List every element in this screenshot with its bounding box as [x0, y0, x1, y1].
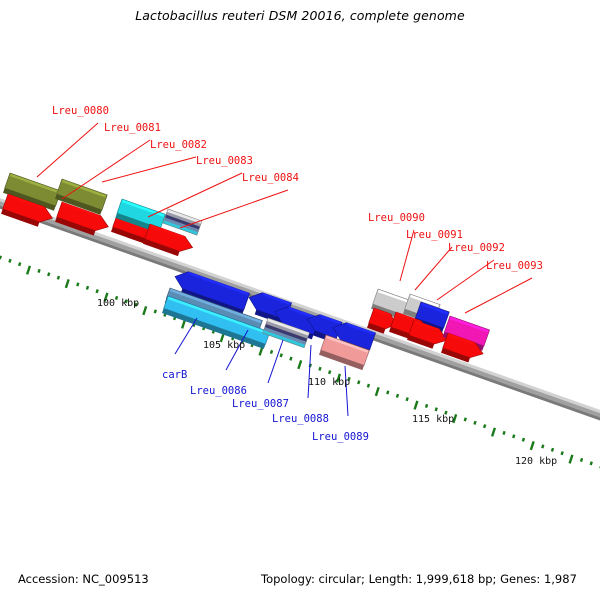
leader-line-reverse: [175, 318, 197, 354]
gene-label-lreu_0090[interactable]: Lreu_0090: [368, 212, 425, 224]
gene-label-lreu_0083[interactable]: Lreu_0083: [196, 155, 253, 167]
gene-label-lreu_0086[interactable]: Lreu_0086: [190, 385, 247, 397]
label-leader-lines: [37, 123, 532, 416]
gene-label-carb[interactable]: carB: [162, 369, 187, 381]
genome-map-viewer: Lactobacillus reuteri DSM 20016, complet…: [0, 0, 600, 600]
ruler-tick-minor: [95, 289, 98, 293]
leader-line-reverse: [308, 345, 311, 398]
ruler-tick-minor: [76, 282, 79, 286]
ruler-label-2[interactable]: 110 kbp: [308, 377, 350, 388]
ruler-tick-minor: [405, 397, 408, 401]
ruler-tick-major: [375, 387, 380, 396]
leader-line-forward: [102, 157, 196, 182]
ruler-tick-minor: [154, 309, 157, 313]
ruler-tick-minor: [0, 255, 2, 259]
ruler-tick-minor: [502, 431, 505, 435]
leader-line-reverse: [268, 340, 283, 383]
ruler-tick-minor: [47, 272, 50, 276]
ruler-tick-minor: [590, 461, 593, 465]
gene-label-lreu_0081[interactable]: Lreu_0081: [104, 122, 161, 134]
ruler-tick-major: [530, 441, 535, 450]
gene-label-lreu_0084[interactable]: Lreu_0084: [242, 172, 299, 184]
ruler-tick-minor: [328, 370, 331, 374]
ruler-label-0[interactable]: 100 kbp: [97, 298, 139, 309]
ruler-tick-minor: [386, 390, 389, 394]
ruler-tick-minor: [425, 404, 428, 408]
gene-label-lreu_0088[interactable]: Lreu_0088: [272, 413, 329, 425]
gene-label-lreu_0093[interactable]: Lreu_0093: [486, 260, 543, 272]
ruler-tick-minor: [512, 434, 515, 438]
ruler-tick-major: [568, 455, 573, 464]
ruler-tick-minor: [522, 438, 525, 442]
ruler-tick-minor: [357, 380, 360, 384]
gene-features: [1, 173, 490, 370]
leader-line-forward: [37, 123, 98, 177]
ruler-label-4[interactable]: 120 kbp: [515, 456, 557, 467]
ruler-tick-minor: [18, 262, 21, 266]
genome-map-canvas: [0, 0, 600, 600]
ruler-tick-minor: [289, 357, 292, 361]
gene-label-lreu_0091[interactable]: Lreu_0091: [406, 229, 463, 241]
gene-label-lreu_0082[interactable]: Lreu_0082: [150, 139, 207, 151]
ruler-tick-minor: [280, 353, 283, 357]
ruler-tick-minor: [580, 458, 583, 462]
leader-line-forward: [180, 190, 288, 228]
ruler-tick-major: [26, 266, 31, 275]
leader-line-forward: [415, 247, 452, 290]
ruler-tick-minor: [551, 448, 554, 452]
ruler-tick-minor: [483, 424, 486, 428]
ruler-tick-minor: [541, 444, 544, 448]
leader-line-reverse: [345, 366, 348, 416]
ruler-tick-minor: [464, 417, 467, 421]
ruler-tick-minor: [57, 276, 60, 280]
gene-label-lreu_0092[interactable]: Lreu_0092: [448, 242, 505, 254]
ruler-tick-minor: [270, 350, 273, 354]
ruler-tick-minor: [8, 259, 11, 263]
ruler-tick-minor: [560, 451, 563, 455]
leader-line-forward: [465, 278, 532, 313]
ruler-label-3[interactable]: 115 kbp: [412, 414, 454, 425]
ruler-label-1[interactable]: 105 kbp: [203, 340, 245, 351]
ruler-tick-minor: [86, 286, 89, 290]
ruler-tick-minor: [473, 421, 476, 425]
ruler-tick-major: [65, 279, 70, 288]
leader-line-forward: [148, 173, 242, 217]
genome-summary-text: Topology: circular; Length: 1,999,618 bp…: [261, 572, 577, 586]
ruler-tick-minor: [318, 367, 321, 371]
ruler-tick-major: [491, 428, 496, 437]
gene-label-lreu_0080[interactable]: Lreu_0080: [52, 105, 109, 117]
ruler-tick-minor: [396, 394, 399, 398]
ruler-tick-major: [413, 401, 418, 410]
gene-label-lreu_0087[interactable]: Lreu_0087: [232, 398, 289, 410]
ruler-tick-major: [297, 360, 302, 369]
ruler-ticks: [0, 252, 600, 477]
ruler-tick-minor: [435, 407, 438, 411]
ruler-tick-minor: [367, 384, 370, 388]
ruler-tick-major: [142, 306, 147, 315]
ruler-tick-minor: [37, 269, 40, 273]
leader-line-forward: [62, 140, 150, 199]
accession-text: Accession: NC_009513: [18, 572, 149, 586]
gene-label-lreu_0089[interactable]: Lreu_0089: [312, 431, 369, 443]
